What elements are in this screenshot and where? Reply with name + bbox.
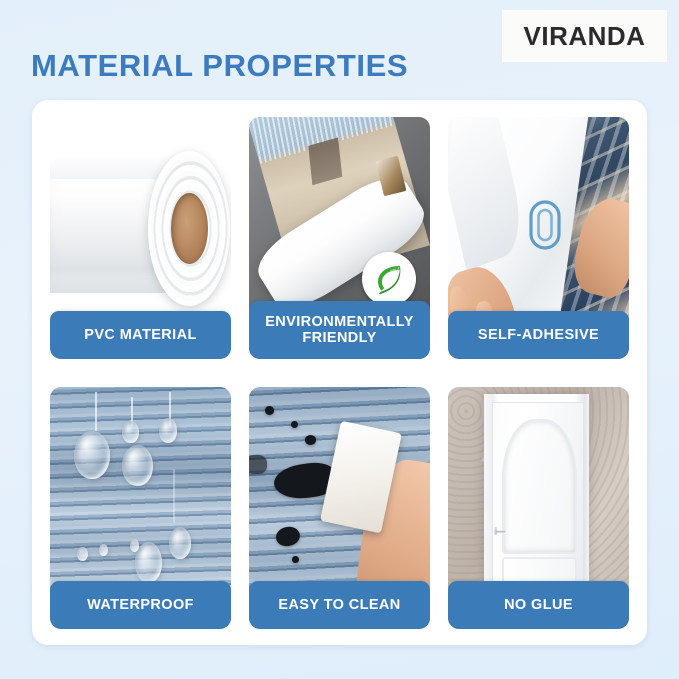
feature-label-easy-to-clean: EASY TO CLEAN: [249, 581, 430, 629]
water-droplet-4: [159, 418, 177, 442]
feature-label-pvc-material: PVC MATERIAL: [50, 311, 231, 359]
page-title: MATERIAL PROPERTIES: [31, 48, 408, 84]
water-droplet-3: [122, 421, 138, 443]
water-droplet-1: [74, 431, 110, 479]
roll-cardboard-core: [171, 193, 208, 264]
feature-label-waterproof: WATERPROOF: [50, 581, 231, 629]
feature-grid: PVC MATERIAL: [50, 117, 629, 629]
brand-name: VIRANDA: [524, 21, 646, 52]
water-droplet-5: [135, 542, 162, 583]
eco-badge: [362, 252, 416, 306]
feature-tile-waterproof: WATERPROOF: [50, 387, 231, 629]
leaf-icon: [372, 262, 406, 296]
water-droplet-8: [99, 544, 108, 556]
pvc-roll-illustration: [50, 151, 231, 306]
droplet-trail-1: [95, 392, 97, 431]
droplet-trail-4: [173, 469, 175, 522]
feature-tile-self-adhesive: SELF-ADHESIVE: [448, 117, 629, 359]
door-panel-top: [502, 419, 576, 554]
product-feature-infographic: VIRANDA MATERIAL PROPERTIES PVC MATERIAL: [0, 0, 679, 679]
stain-small-3: [305, 435, 316, 445]
feature-label-environmentally-friendly: ENVIRONMENTALLY FRIENDLY: [249, 301, 430, 359]
door-handle-icon: [494, 521, 507, 541]
stain-small-4: [292, 556, 298, 563]
feature-card: PVC MATERIAL: [32, 100, 647, 645]
feature-label-no-glue: NO GLUE: [448, 581, 629, 629]
water-droplet-2: [122, 445, 153, 486]
feature-label-self-adhesive: SELF-ADHESIVE: [448, 311, 629, 359]
water-droplet-7: [77, 547, 88, 562]
stain-small-2: [291, 421, 298, 428]
feature-tile-pvc-material: PVC MATERIAL: [50, 117, 231, 359]
backing-paper-fold: [448, 117, 529, 271]
stain-medium: [274, 525, 301, 549]
feature-tile-environmentally-friendly: ENVIRONMENTALLY FRIENDLY: [249, 117, 430, 359]
feature-tile-easy-to-clean: EASY TO CLEAN: [249, 387, 430, 629]
paperclip-icon: [528, 199, 562, 251]
water-droplet-6: [169, 527, 191, 558]
feature-tile-no-glue: NO GLUE: [448, 387, 629, 629]
stain-small-1: [265, 406, 274, 414]
water-droplet-9: [130, 539, 139, 551]
brand-logo: VIRANDA: [502, 10, 667, 62]
stain-smear: [249, 455, 267, 474]
